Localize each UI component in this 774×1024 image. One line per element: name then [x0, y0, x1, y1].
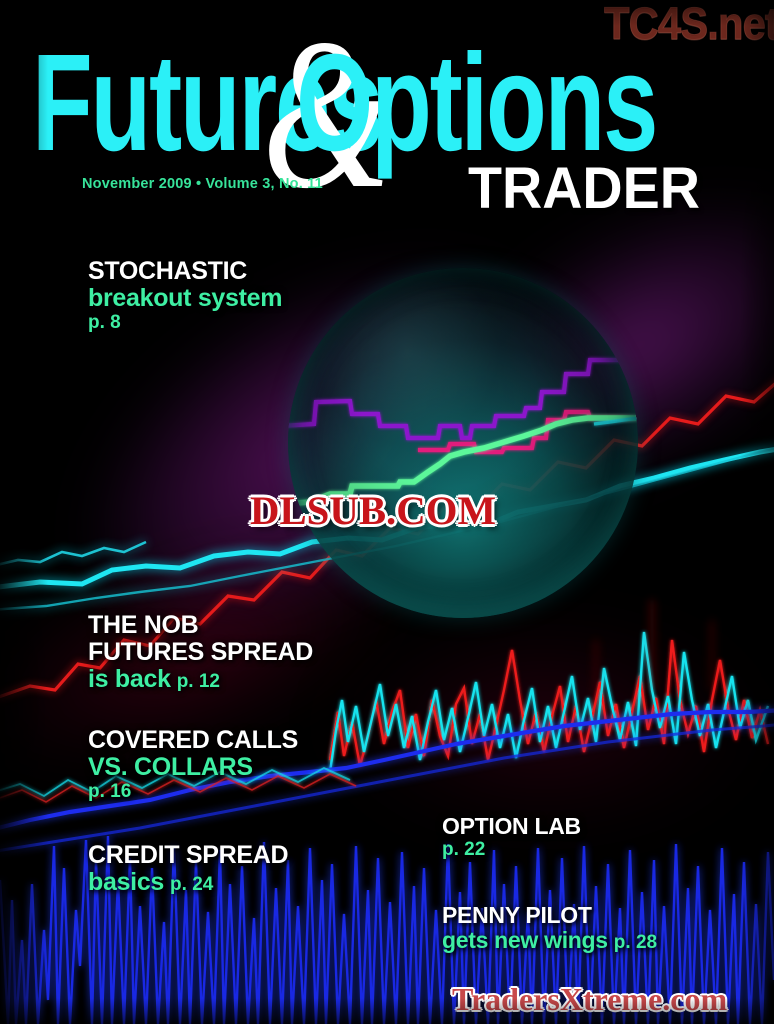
coverline-credit-headline: CREDIT SPREAD: [88, 842, 288, 869]
sphere-purple-line: [288, 360, 638, 438]
coverline-nob-headline-1: THE NOB: [88, 612, 313, 639]
watermark-dlsub: DLSUB.COM: [250, 487, 496, 534]
coverline-penny-subline: gets new wingsp. 28: [442, 928, 657, 954]
watermark-tc4s: TC4S.net: [604, 0, 774, 50]
coverline-credit-subline: basicsp. 24: [88, 869, 288, 896]
magazine-cover: Futures & Options TRADER November 2009 •…: [0, 0, 774, 1024]
coverline-nob-page: p. 12: [177, 671, 220, 692]
sphere-shading: [288, 268, 638, 618]
coverline-stochastic-page: p. 8: [88, 312, 282, 334]
sphere-content-clip: [288, 268, 638, 618]
coverline-nob-futures-spread[interactable]: THE NOB FUTURES SPREAD is backp. 12: [88, 612, 313, 693]
coverline-stochastic-subhead: breakout system: [88, 285, 282, 312]
coverline-penny-pilot[interactable]: PENNY PILOT gets new wingsp. 28: [442, 903, 657, 954]
sphere-magenta-line: [418, 412, 638, 452]
coverline-option-lab-page: p. 22: [442, 839, 581, 861]
coverline-nob-headline-2: FUTURES SPREAD: [88, 639, 313, 666]
coverline-penny-page: p. 28: [614, 932, 657, 953]
coverline-covered-page: p. 16: [88, 781, 298, 803]
masthead-word-options: Options: [296, 34, 656, 172]
issue-line: November 2009 • Volume 3, No. 11: [82, 176, 323, 192]
coverline-nob-subline: is backp. 12: [88, 666, 313, 693]
coverline-covered-calls[interactable]: COVERED CALLS VS. COLLARS p. 16: [88, 727, 298, 803]
sphere-body: [288, 268, 638, 618]
cyan-osc-left: [0, 542, 146, 566]
coverline-covered-headline: COVERED CALLS: [88, 727, 298, 754]
coverline-penny-subhead: gets new wings: [442, 927, 608, 953]
coverline-option-lab-headline: OPTION LAB: [442, 814, 581, 839]
coverline-penny-headline: PENNY PILOT: [442, 903, 657, 928]
glass-sphere-graphic: [288, 268, 638, 618]
sphere-rim-highlight: [288, 268, 638, 618]
coverline-nob-subhead: is back: [88, 665, 171, 693]
coverline-credit-subhead: basics: [88, 868, 164, 896]
coverline-stochastic[interactable]: STOCHASTIC breakout system p. 8: [88, 258, 282, 334]
sphere-candlestick-chart: [288, 268, 638, 618]
masthead-word-trader: TRADER: [468, 160, 700, 218]
red-spikes-right: [596, 600, 712, 700]
coverline-option-lab[interactable]: OPTION LAB p. 22: [442, 814, 581, 861]
coverline-credit-spread[interactable]: CREDIT SPREAD basicsp. 24: [88, 842, 288, 896]
red-haze-right: [330, 610, 760, 840]
volatility-zigzag-chart: [330, 632, 768, 772]
coverline-stochastic-headline: STOCHASTIC: [88, 258, 282, 285]
coverline-covered-subhead: VS. COLLARS: [88, 754, 298, 781]
coverline-credit-page: p. 24: [170, 874, 213, 895]
watermark-tradersxtreme: TradersXtreme.com: [452, 981, 727, 1018]
